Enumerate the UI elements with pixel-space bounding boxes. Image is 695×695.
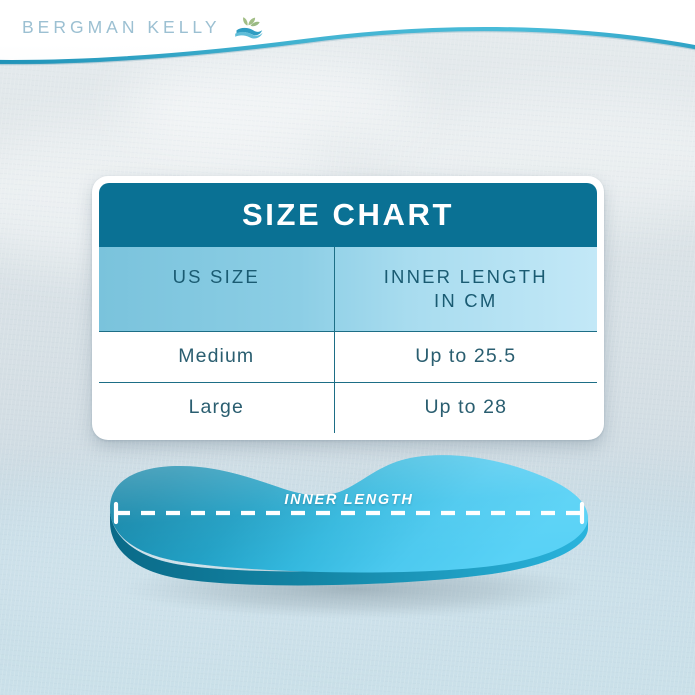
brand-wordmark: BERGMAN KELLY <box>22 17 221 38</box>
column-header-inner-length-label: INNER LENGTH <box>384 266 548 287</box>
column-header-inner-length: INNER LENGTH IN CM <box>335 247 597 331</box>
cell-us-size: Large <box>99 383 335 433</box>
insole-diagram: INNER LENGTH <box>104 446 594 616</box>
column-header-us-size-label: US SIZE <box>173 266 260 287</box>
size-chart-graphic: BERGMAN KELLY SIZE CHART <box>0 0 695 695</box>
size-chart-card: SIZE CHART US SIZE INNER LENGTH IN CM Me… <box>92 176 604 440</box>
column-header-inner-length-unit: IN CM <box>341 289 591 313</box>
cell-inner-length: Up to 25.5 <box>335 332 597 382</box>
table-row: Large Up to 28 <box>99 382 597 433</box>
size-chart-table: SIZE CHART US SIZE INNER LENGTH IN CM Me… <box>99 183 597 433</box>
cell-inner-length: Up to 28 <box>335 383 597 433</box>
table-header-row: US SIZE INNER LENGTH IN CM <box>99 247 597 331</box>
header-band: BERGMAN KELLY <box>0 0 695 90</box>
page-title: SIZE CHART <box>99 183 597 247</box>
table-row: Medium Up to 25.5 <box>99 331 597 382</box>
cell-us-size: Medium <box>99 332 335 382</box>
column-header-us-size: US SIZE <box>99 247 335 331</box>
leaf-wave-icon <box>231 12 265 42</box>
brand-logo: BERGMAN KELLY <box>22 12 265 42</box>
